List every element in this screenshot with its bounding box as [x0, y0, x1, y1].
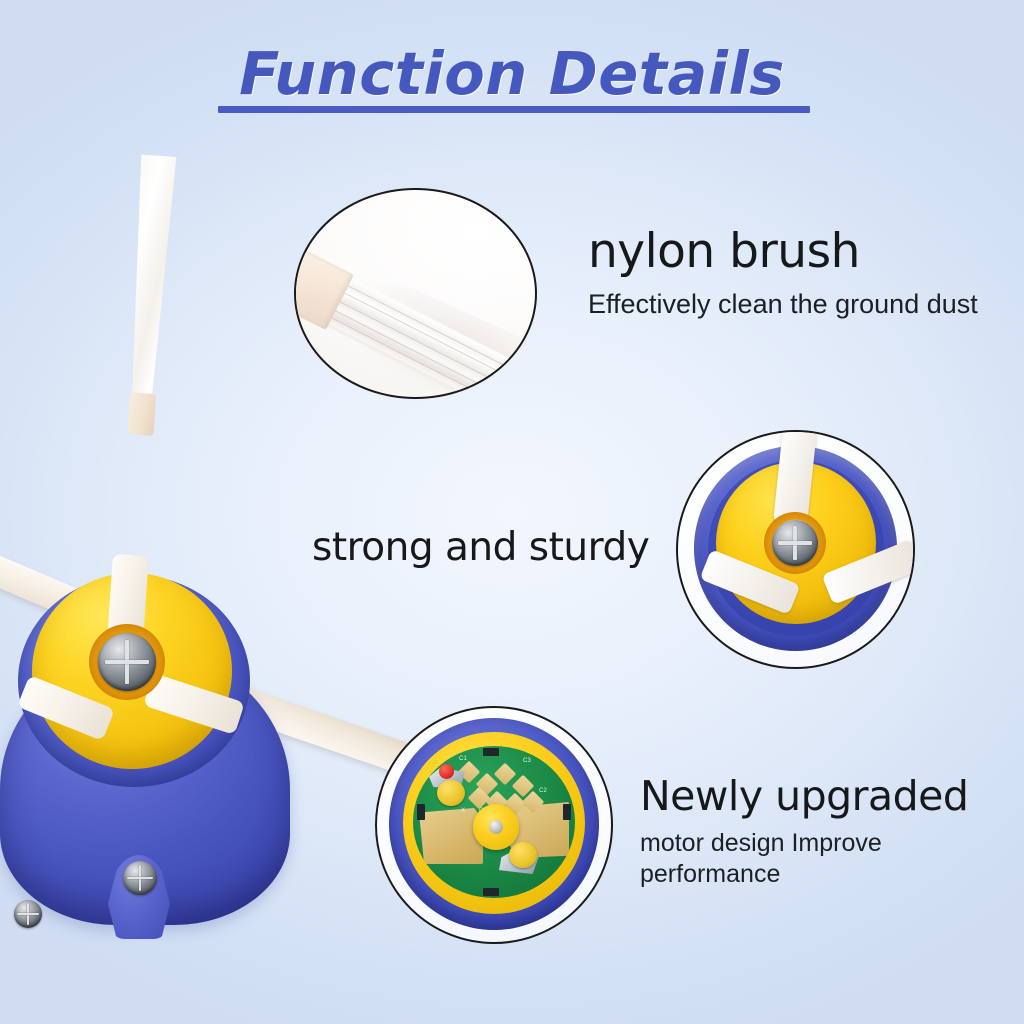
copper-pad-left: [419, 808, 483, 864]
motor-contact-pad: [437, 780, 465, 806]
hub-center-screw: [772, 520, 818, 566]
feature-text-strong-sturdy: strong and sturdy: [312, 528, 712, 569]
feature-headline: nylon brush: [588, 227, 1008, 276]
title-underline: [218, 106, 810, 113]
feature-text-newly-upgraded: Newly upgraded motor design Improve perf…: [640, 775, 1020, 889]
title-block: Function Details: [0, 44, 1024, 103]
page-title: Function Details: [0, 44, 1024, 103]
mount-screw: [123, 861, 157, 895]
feature-headline: Newly upgraded: [640, 775, 1020, 818]
side-screw: [14, 900, 42, 928]
feature-text-nylon-brush: nylon brush Effectively clean the ground…: [588, 227, 1008, 321]
callout-motor-pcb: C1 C2 C3 C4 X: [375, 706, 613, 944]
bristle-base: [127, 392, 156, 436]
shell-clip: [483, 748, 499, 756]
callout-nylon-brush: [294, 188, 537, 399]
silkscreen-label: C2: [539, 788, 547, 794]
bristle-blade: [121, 154, 178, 406]
feature-description: Effectively clean the ground dust: [588, 288, 1008, 321]
pcb-board: C1 C2 C3 C4 X: [413, 746, 575, 898]
shell-clip: [563, 804, 571, 820]
pcb-center-hub: [473, 804, 519, 850]
feature-description: motor design Improve performance: [640, 828, 1020, 889]
silkscreen-label: C1: [459, 756, 467, 762]
infographic-canvas: Function Details: [0, 0, 1024, 1024]
shell-clip: [417, 804, 425, 820]
led-indicator: [439, 764, 454, 779]
rotor-center-screw: [98, 633, 156, 691]
shell-clip: [483, 888, 499, 896]
motor-contact-pad: [509, 842, 537, 868]
brush-arm-top: [120, 154, 179, 426]
feature-headline: strong and sturdy: [312, 528, 712, 569]
silkscreen-label: C3: [523, 758, 531, 764]
silkscreen-label: X: [461, 808, 465, 814]
